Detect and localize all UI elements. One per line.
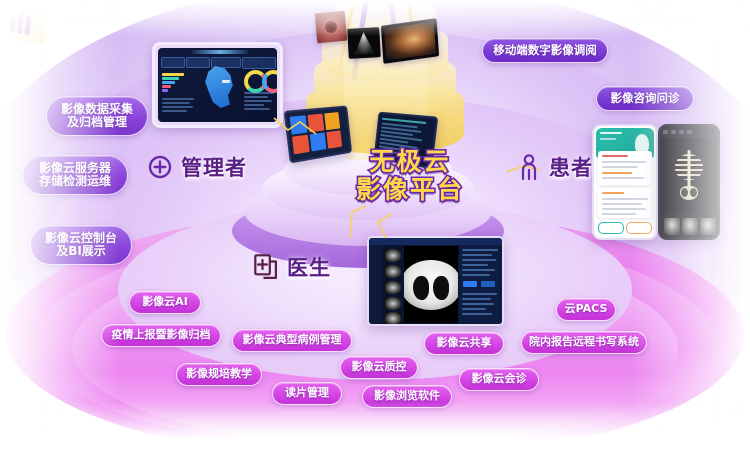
fade-right	[630, 0, 750, 450]
pill-line-1: 影像浏览软件	[374, 390, 440, 402]
pill-cloud-pacs[interactable]: 云PACS	[556, 298, 616, 321]
role-admin-label: 管理者	[181, 152, 247, 182]
phone-button-left[interactable]	[598, 222, 624, 234]
donut-chart	[262, 70, 277, 93]
dashboard-title-bar	[192, 50, 248, 54]
pill-line-1: 云PACS	[565, 303, 608, 315]
role-doctor[interactable]: 医生	[254, 252, 331, 282]
sparkle	[452, 118, 455, 121]
ct-action-button[interactable]	[463, 281, 477, 287]
china-map-chart	[198, 62, 242, 114]
ct-info-panel	[459, 245, 502, 324]
pill-image-cloud-qc[interactable]: 影像云质控	[340, 356, 418, 379]
pill-mobile-image-retrieval[interactable]: 移动端数字影像调阅	[482, 38, 608, 63]
pill-image-training-education[interactable]: 影像规培教学	[176, 363, 262, 386]
pill-line-1: 移动端数字影像调阅	[493, 44, 597, 57]
ct-action-button[interactable]	[481, 281, 495, 287]
pill-image-cloud-consultation[interactable]: 影像云会诊	[459, 368, 539, 391]
page-title-line-1: 无极云	[330, 148, 490, 176]
ct-series-thumbnails[interactable]	[383, 246, 403, 323]
ct-tool-rail	[369, 245, 382, 324]
role-patient-label: 患者	[549, 152, 593, 182]
ct-viewer-screen[interactable]	[367, 236, 504, 326]
pill-typical-case-management[interactable]: 影像云典型病例管理	[232, 329, 352, 352]
kpi-card	[242, 57, 276, 69]
pill-image-cloud-sharing[interactable]: 影像云共享	[424, 332, 504, 355]
ct-thorax-slice	[404, 260, 458, 310]
kpi-card	[161, 57, 185, 68]
pill-line-1: 院内报告远程书写系统	[529, 336, 639, 348]
circle-plus-icon	[148, 155, 172, 179]
pill-line-1: 影像规培教学	[186, 368, 252, 380]
dashboard-content	[158, 48, 277, 122]
ct-toolbar	[369, 238, 502, 245]
pill-line-1: 读片管理	[285, 387, 329, 399]
role-doctor-label: 医生	[287, 252, 331, 282]
page-title-line-2: 影像平台	[330, 176, 490, 204]
admin-dashboard-screen[interactable]	[152, 42, 283, 128]
page-title: 无极云 影像平台	[330, 148, 490, 204]
pill-image-cloud-ai[interactable]: 影像云AI	[129, 291, 201, 314]
pill-line-1: 影像云共享	[437, 337, 492, 349]
pill-intra-hospital-remote-report[interactable]: 院内报告远程书写系统	[521, 331, 647, 354]
role-admin[interactable]: 管理者	[148, 152, 247, 182]
infographic-canvas: 管理者 患者 医生 无极云 影像平台 影像数据采集 及归档管理 影像云服务器	[0, 0, 750, 450]
pill-line-1: 影像云典型病例管理	[243, 334, 342, 346]
pill-line-1: 影像云会诊	[472, 373, 527, 385]
fade-bottom	[0, 402, 750, 450]
pill-line-1: 疫情上报暨影像归档	[112, 329, 211, 341]
document-plus-icon	[254, 254, 278, 280]
role-patient[interactable]: 患者	[518, 152, 593, 182]
person-icon	[518, 154, 540, 180]
pill-line-1: 影像云AI	[142, 296, 188, 308]
fade-left	[0, 0, 120, 450]
pill-line-1: 影像云质控	[352, 361, 407, 373]
ct-image-viewport[interactable]	[404, 246, 458, 323]
